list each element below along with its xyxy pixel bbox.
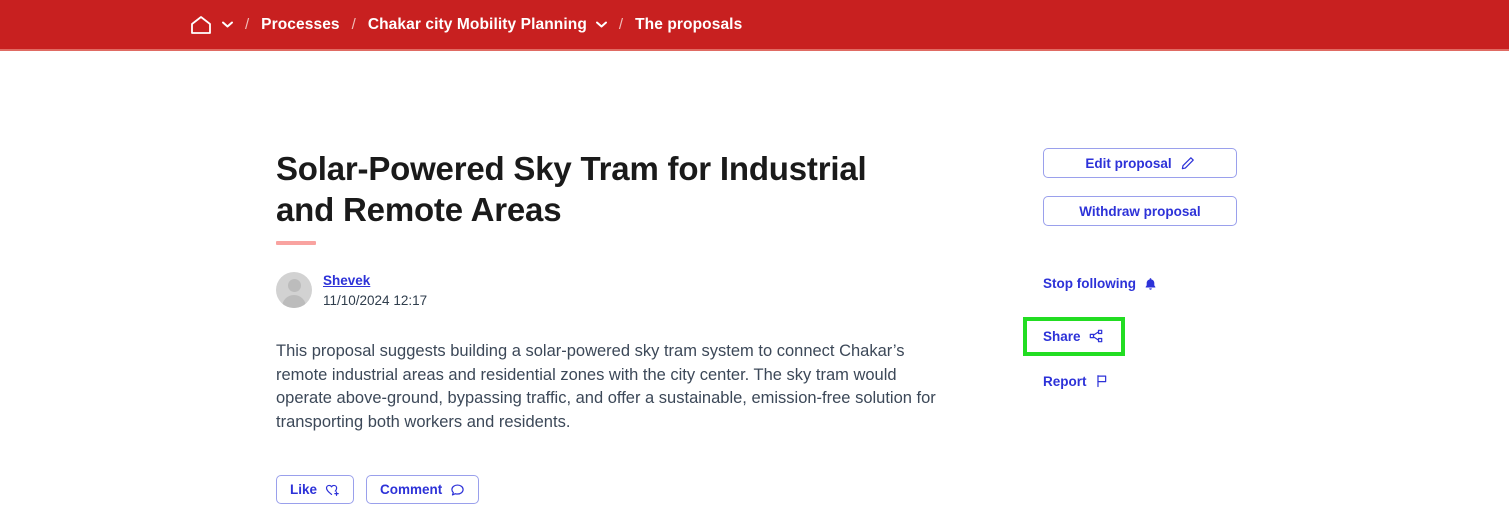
avatar-body-shape: [282, 295, 306, 308]
speech-bubble-icon: [450, 483, 465, 497]
author-block: Shevek 11/10/2024 12:17: [276, 272, 956, 308]
report-label: Report: [1043, 374, 1087, 389]
breadcrumb-item-processes[interactable]: Processes: [261, 16, 339, 34]
title-accent-rule: [276, 241, 316, 245]
breadcrumb-bar: / Processes / Chakar city Mobility Plann…: [0, 0, 1509, 51]
stop-following-link[interactable]: Stop following: [1043, 274, 1157, 293]
home-chevron-down-icon[interactable]: [222, 21, 233, 28]
bell-icon: [1144, 277, 1157, 291]
avatar-head-shape: [288, 279, 301, 292]
sidebar-links: Stop following Share: [1043, 274, 1243, 391]
proposal-action-buttons: Like Comment: [276, 475, 956, 504]
report-wrap: Report: [1043, 372, 1243, 391]
stop-following-wrap: Stop following: [1043, 274, 1243, 293]
breadcrumb-item-the-proposals[interactable]: The proposals: [635, 16, 742, 34]
withdraw-proposal-button[interactable]: Withdraw proposal: [1043, 196, 1237, 226]
share-link[interactable]: Share: [1043, 327, 1103, 345]
proposal-timestamp: 11/10/2024 12:17: [323, 293, 427, 308]
flag-icon: [1095, 374, 1109, 388]
like-button-label: Like: [290, 482, 317, 497]
share-icon: [1089, 329, 1103, 343]
breadcrumb-separator: /: [245, 16, 249, 33]
withdraw-proposal-label: Withdraw proposal: [1079, 204, 1200, 219]
process-chevron-down-icon[interactable]: [596, 21, 607, 28]
avatar: [276, 272, 312, 308]
comment-button[interactable]: Comment: [366, 475, 479, 504]
breadcrumb-item-process[interactable]: Chakar city Mobility Planning: [368, 16, 587, 34]
proposal-main-column: Solar-Powered Sky Tram for Industrial an…: [276, 148, 956, 504]
edit-proposal-button[interactable]: Edit proposal: [1043, 148, 1237, 178]
page-body: Solar-Powered Sky Tram for Industrial an…: [0, 51, 1509, 148]
author-meta: Shevek 11/10/2024 12:17: [323, 272, 427, 308]
proposal-body-text: This proposal suggests building a solar-…: [276, 340, 936, 434]
home-icon[interactable]: [189, 14, 213, 36]
author-name-link[interactable]: Shevek: [323, 273, 370, 288]
comment-button-label: Comment: [380, 482, 442, 497]
report-link[interactable]: Report: [1043, 372, 1109, 391]
share-wrap: Share: [1043, 308, 1243, 357]
pencil-icon: [1181, 156, 1195, 170]
like-button[interactable]: Like: [276, 475, 354, 504]
share-label: Share: [1043, 329, 1081, 344]
heart-plus-icon: [325, 483, 340, 497]
breadcrumb-separator: /: [619, 16, 623, 33]
breadcrumb-separator: /: [352, 16, 356, 33]
share-target-highlight: Share: [1023, 317, 1125, 356]
proposal-sidebar: Edit proposal Withdraw proposal Stop fol…: [1043, 148, 1243, 391]
stop-following-label: Stop following: [1043, 276, 1136, 291]
page-title: Solar-Powered Sky Tram for Industrial an…: [276, 148, 916, 230]
edit-proposal-label: Edit proposal: [1085, 156, 1171, 171]
